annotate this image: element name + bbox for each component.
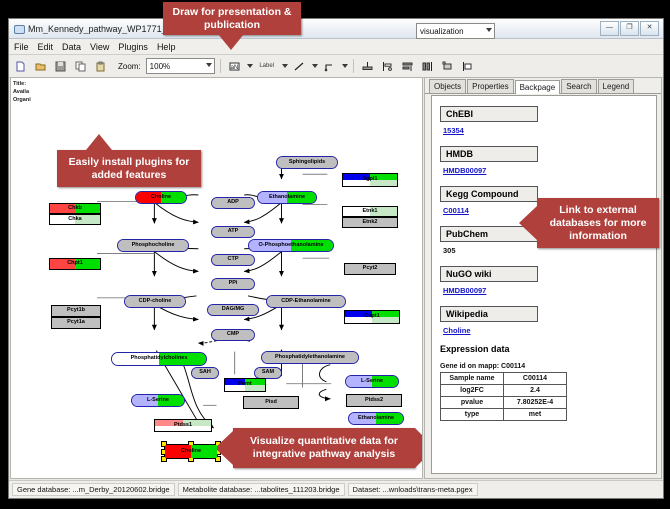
node-label: Cept1 — [364, 314, 379, 320]
line-icon[interactable] — [291, 58, 308, 75]
svg-text:aN: aN — [230, 65, 238, 71]
node-label: Sphingolipids — [289, 160, 325, 166]
node-label: Ethanolamine — [358, 416, 394, 422]
group-icon[interactable] — [439, 58, 456, 75]
expression-table: Sample nameC00114log2FC2.4pvalue7.80252E… — [440, 372, 567, 421]
db-link-wikipedia[interactable]: Choline — [443, 326, 656, 335]
node-label: Phosphatidylethanolamine — [275, 355, 345, 361]
label-dropdown[interactable]: Label — [256, 58, 278, 75]
node-label: Pemt — [238, 382, 251, 388]
connector-dropdown-icon[interactable] — [342, 64, 348, 68]
node-label: Pcyt2 — [363, 266, 378, 272]
align-center-icon[interactable] — [359, 58, 376, 75]
gene-node-cept1[interactable]: Cept1 — [344, 310, 400, 324]
node-label: Ptdss1 — [174, 423, 192, 429]
callout-draw-arrow — [218, 34, 244, 50]
gene-node-pisd[interactable]: Pisd — [243, 396, 299, 409]
node-label: ADP — [227, 200, 239, 206]
metabolite-node-adp[interactable]: ADP — [211, 197, 255, 209]
expr-key: log2FC — [441, 385, 504, 397]
menu-item-data[interactable]: Data — [62, 42, 81, 52]
db-header-kegg-compound: Kegg Compound — [440, 186, 538, 202]
expression-data-heading: Expression data — [440, 344, 656, 354]
callout-visualize-arrow-right — [415, 428, 423, 468]
open-icon[interactable] — [32, 58, 49, 75]
toolbar-separator-2 — [353, 59, 354, 73]
node-label: Phosphatidylcholines — [131, 356, 188, 362]
table-row: pvalue7.80252E-4 — [441, 397, 567, 409]
node-label: O-Phosphoethanolamine — [258, 243, 323, 249]
tab-search[interactable]: Search — [561, 79, 596, 93]
callout-draw-text: Draw for presentation & publication — [163, 6, 301, 32]
expr-key: pvalue — [441, 397, 504, 409]
window-titlebar: Mm_Kennedy_pathway_WP1771_45176.gpml — ❐… — [9, 19, 663, 39]
close-button[interactable]: ✕ — [640, 21, 659, 36]
app-icon — [13, 23, 24, 34]
gene-node-pcyt2[interactable]: Pcyt2 — [344, 263, 396, 275]
node-dropdown-icon[interactable] — [247, 64, 253, 68]
tab-properties[interactable]: Properties — [467, 79, 513, 93]
toolbar: Zoom: 100% aN Label — [9, 55, 663, 78]
expr-value: 7.80252E-4 — [504, 397, 567, 409]
gene-node-ptdss2[interactable]: Ptdss2 — [346, 394, 402, 407]
zoom-value: 100% — [150, 62, 170, 71]
db-header-chebi: ChEBI — [440, 106, 538, 122]
visualization-combobox[interactable]: visualization — [416, 23, 495, 39]
node-label: CTP — [228, 257, 239, 263]
metabolite-node-l-serine[interactable]: L-Serine — [345, 375, 399, 388]
gene-node-etnk2[interactable]: Etnk2 — [342, 217, 398, 228]
db-header-nugo-wiki: NuGO wiki — [440, 266, 538, 282]
gene-node-ptdss1[interactable]: Ptdss1 — [154, 419, 212, 432]
callout-visualize: Visualize quantitative data for integrat… — [233, 428, 415, 468]
node-label: L-Serine — [147, 398, 169, 404]
visualization-value: visualization — [420, 27, 464, 36]
metabolite-node-phosphatidylcholines[interactable]: Phosphatidylcholines — [111, 352, 207, 366]
callout-link: Link to external databases for more info… — [537, 198, 659, 248]
expr-key: Sample name — [441, 373, 504, 385]
table-row: Sample nameC00114 — [441, 373, 567, 385]
order-icon[interactable] — [459, 58, 476, 75]
chevron-down-icon-2 — [486, 28, 492, 32]
node-label: Etnk1 — [363, 209, 378, 215]
menu-item-file[interactable]: File — [14, 42, 29, 52]
status-dataset: Dataset: ...wnloads\trans-meta.pgex — [348, 483, 478, 496]
metabolite-node-ppi[interactable]: PPi — [211, 278, 255, 290]
node-label: L-Serine — [361, 379, 383, 385]
toolbar-separator — [220, 59, 221, 73]
meta-title-label: Title: — [13, 80, 43, 88]
metabolite-node-sah[interactable]: SAH — [191, 367, 219, 379]
backpage-content[interactable]: ChEBI15354HMDBHMDB00097Kegg CompoundC001… — [431, 95, 657, 474]
metabolite-node-sphingolipids[interactable]: Sphingolipids — [276, 156, 338, 169]
metabolite-node-phosphatidylethanolamine[interactable]: Phosphatidylethanolamine — [261, 351, 359, 364]
node-label: CDP-Ethanolamine — [281, 299, 331, 305]
save-icon[interactable] — [52, 58, 69, 75]
node-label: Chkb — [68, 206, 82, 212]
metabolite-node-sam[interactable]: SAM — [254, 367, 282, 379]
db-link-chebi[interactable]: 15354 — [443, 126, 656, 135]
metabolite-node-dag-mg[interactable]: DAG/MG — [207, 304, 259, 316]
metabolite-node-cdp-ethanolamine[interactable]: CDP-Ethanolamine — [266, 295, 346, 308]
node-label: PPi — [229, 281, 238, 287]
metabolite-node-ctp[interactable]: CTP — [211, 254, 255, 266]
tab-objects[interactable]: Objects — [429, 79, 466, 93]
table-row: typemet — [441, 409, 567, 421]
gene-node-sgpl1[interactable]: Sgpl1 — [342, 173, 398, 187]
meta-availability-label: Availa — [13, 88, 43, 96]
status-gene-database: Gene database: ...m_Derby_20120602.bridg… — [12, 483, 175, 496]
node-label: Phosphocholine — [132, 243, 175, 249]
maximize-button[interactable]: ❐ — [620, 21, 639, 36]
callout-plugins: Easily install plugins for added feature… — [57, 150, 201, 187]
menu-item-view[interactable]: View — [90, 42, 109, 52]
node-label: CDP-choline — [139, 299, 172, 305]
node-label: Choline — [151, 195, 171, 201]
line-dropdown-icon[interactable] — [312, 64, 318, 68]
metabolite-node-ethanolamine[interactable]: Ethanolamine — [257, 191, 317, 204]
node-label: Chka — [68, 217, 81, 223]
paste-icon[interactable] — [92, 58, 109, 75]
metabolite-node-phosphocholine[interactable]: Phosphocholine — [117, 239, 189, 252]
label-dropdown-icon[interactable] — [282, 64, 288, 68]
copy-icon[interactable] — [72, 58, 89, 75]
metabolite-node-cmp[interactable]: CMP — [211, 329, 255, 341]
selected-metabolite-node-choline[interactable]: Choline — [164, 444, 218, 459]
metabolite-node-l-serine[interactable]: L-Serine — [131, 394, 185, 407]
pathway-canvas[interactable]: Title: Availa Organi — [10, 77, 423, 479]
main-body: Title: Availa Organi — [9, 76, 663, 480]
node-label: Pcyt1b — [67, 308, 85, 314]
node-label: SAH — [199, 370, 211, 376]
menu-item-plugins[interactable]: Plugins — [118, 42, 148, 52]
gene-node-chpt1[interactable]: Chpt1 — [49, 258, 101, 270]
tab-legend[interactable]: Legend — [598, 79, 635, 93]
menu-bar: File Edit Data View Plugins Help — [9, 39, 663, 55]
callout-plugins-arrow — [86, 134, 112, 150]
db-link-nugo-wiki[interactable]: HMDB00097 — [443, 286, 656, 295]
screenshot-root: Mm_Kennedy_pathway_WP1771_45176.gpml — ❐… — [0, 0, 670, 509]
gene-id-label: Gene id on mapp: C00114 — [440, 363, 656, 370]
expr-value: 2.4 — [504, 385, 567, 397]
tab-backpage[interactable]: Backpage — [515, 80, 561, 94]
distribute-icon[interactable] — [399, 58, 416, 75]
chevron-down-icon — [206, 63, 212, 67]
zoom-combobox[interactable]: 100% — [146, 58, 215, 74]
expr-value: met — [504, 409, 567, 421]
callout-visualize-text: Visualize quantitative data for integrat… — [233, 435, 415, 461]
db-header-wikipedia: Wikipedia — [440, 306, 538, 322]
pathway-meta-column: Title: Availa Organi — [13, 80, 43, 104]
node-label: Sgpl1 — [363, 177, 378, 183]
node-label: CMP — [227, 332, 239, 338]
node-icon[interactable]: aN — [226, 58, 243, 75]
node-label: DAG/MG — [222, 307, 245, 313]
meta-organism-label: Organi — [13, 96, 43, 104]
node-label: Pisd — [265, 400, 277, 406]
db-header-hmdb: HMDB — [440, 146, 538, 162]
zoom-label: Zoom: — [118, 62, 141, 71]
gene-node-chka[interactable]: Chka — [49, 214, 101, 225]
callout-link-text: Link to external databases for more info… — [537, 204, 659, 243]
metabolite-node-cdp-choline[interactable]: CDP-choline — [124, 295, 186, 308]
gene-node-pcyt1b[interactable]: Pcyt1b — [51, 305, 101, 317]
node-label: ATP — [228, 229, 239, 235]
connector-icon[interactable] — [321, 58, 338, 75]
gene-node-etnk1[interactable]: Etnk1 — [342, 206, 398, 217]
node-label: Etnk2 — [363, 220, 378, 226]
metabolite-node-ethanolamine[interactable]: Ethanolamine — [348, 412, 404, 425]
stack-icon[interactable] — [419, 58, 436, 75]
db-link-hmdb[interactable]: HMDB00097 — [443, 166, 656, 175]
gene-node-pcyt1a[interactable]: Pcyt1a — [51, 317, 101, 329]
metabolite-node-o-phosphoethanolamine[interactable]: O-Phosphoethanolamine — [248, 239, 334, 252]
callout-plugins-text: Easily install plugins for added feature… — [57, 156, 201, 182]
window-controls: — ❐ ✕ — [600, 21, 659, 36]
menu-item-help[interactable]: Help — [157, 42, 176, 52]
callout-link-arrow — [519, 206, 537, 240]
align-left-icon[interactable] — [379, 58, 396, 75]
status-metabolite-database: Metabolite database: ...tabolites_111203… — [178, 483, 345, 496]
node-label: Chpt1 — [67, 261, 83, 267]
callout-draw: Draw for presentation & publication — [163, 2, 301, 35]
metabolite-node-atp[interactable]: ATP — [211, 226, 255, 238]
side-panel-tabs: Objects Properties Backpage Search Legen… — [425, 78, 661, 94]
node-label: SAM — [262, 370, 274, 376]
menu-item-edit[interactable]: Edit — [38, 42, 54, 52]
status-bar: Gene database: ...m_Derby_20120602.bridg… — [9, 480, 663, 498]
gene-node-chkb[interactable]: Chkb — [49, 203, 101, 214]
gene-node-pemt[interactable]: Pemt — [224, 378, 266, 392]
metabolite-node-choline[interactable]: Choline — [135, 191, 187, 204]
node-label: Choline — [181, 449, 201, 455]
callout-visualize-arrow — [215, 431, 233, 465]
application-window: Mm_Kennedy_pathway_WP1771_45176.gpml — ❐… — [8, 18, 664, 499]
expr-value: C00114 — [504, 373, 567, 385]
node-label: Pcyt1a — [67, 320, 85, 326]
expr-key: type — [441, 409, 504, 421]
node-label: Ethanolamine — [269, 195, 305, 201]
table-row: log2FC2.4 — [441, 385, 567, 397]
node-label: Ptdss2 — [365, 398, 383, 404]
new-icon[interactable] — [12, 58, 29, 75]
minimize-button[interactable]: — — [600, 21, 619, 36]
side-panel: Objects Properties Backpage Search Legen… — [424, 77, 662, 479]
